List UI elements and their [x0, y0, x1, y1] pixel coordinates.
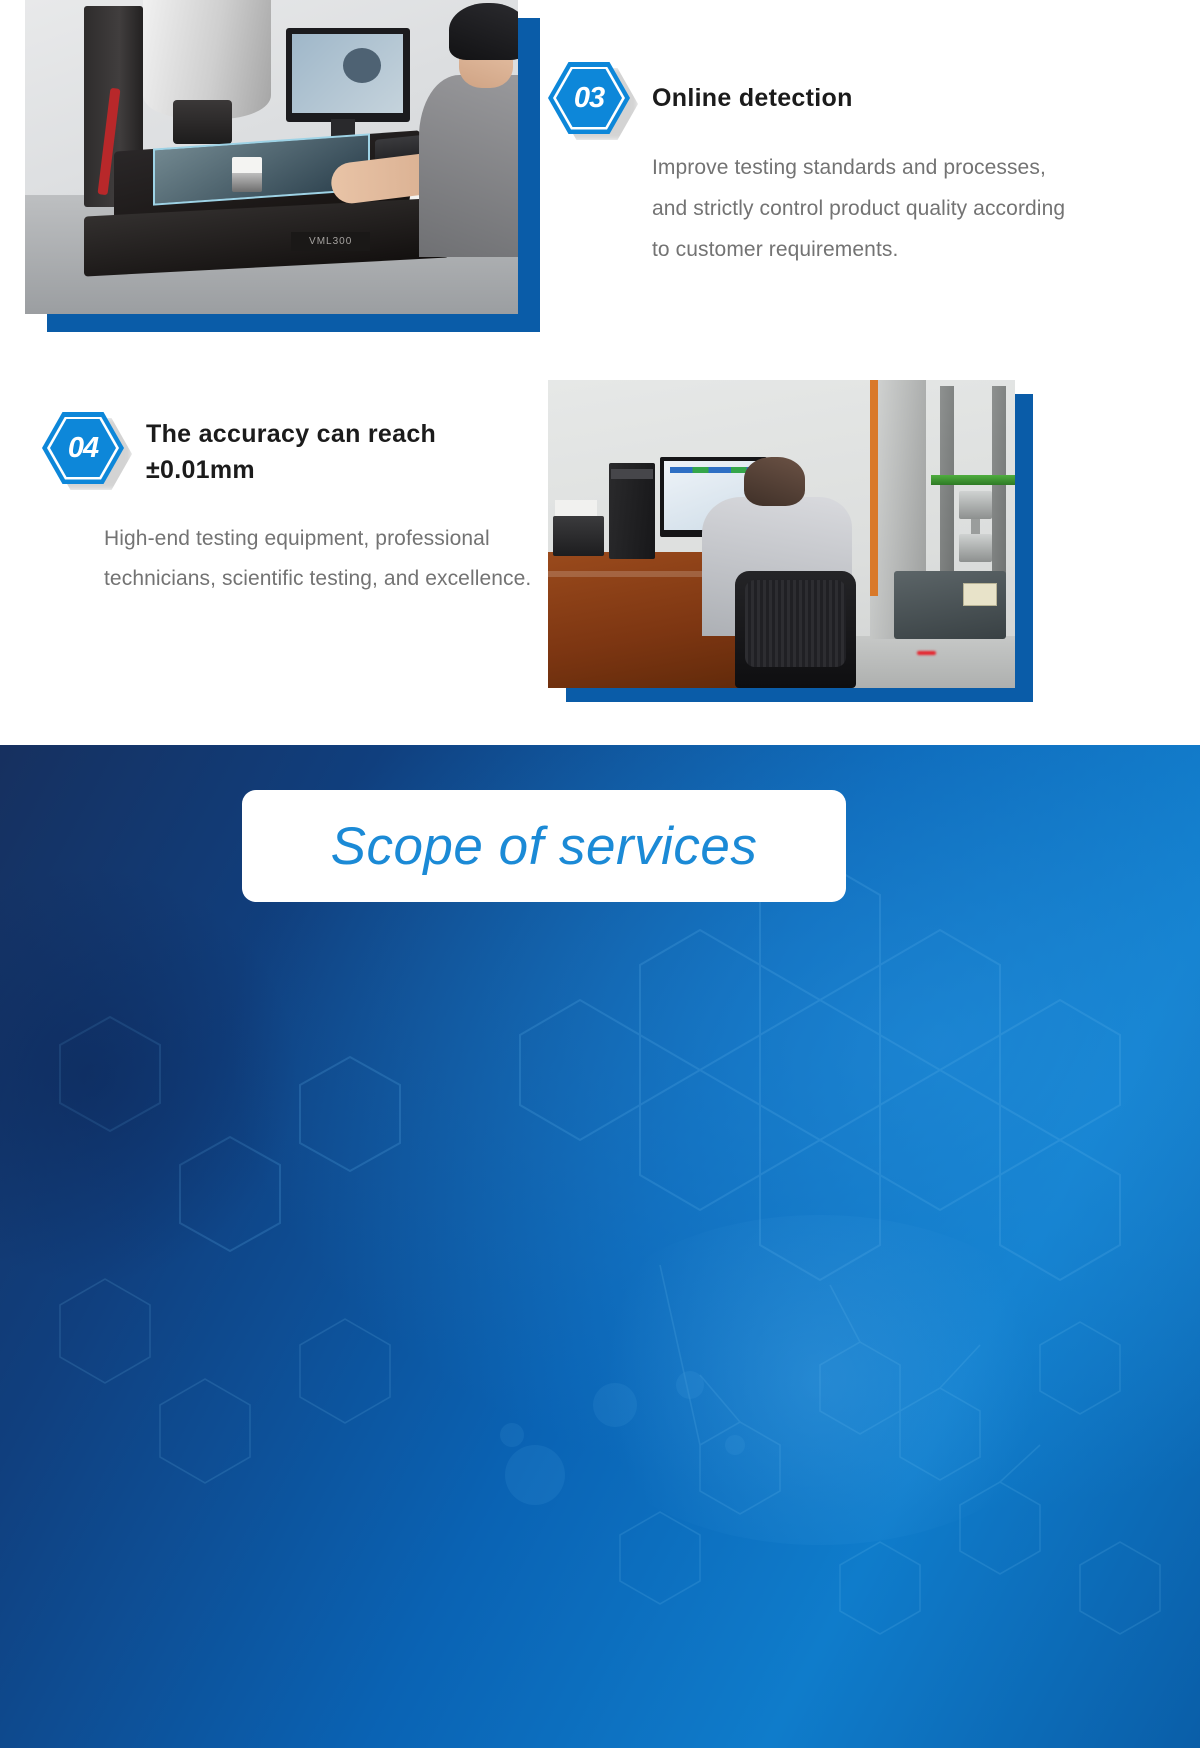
feature-title-03: Online detection: [652, 80, 853, 116]
photo-online-detection: VML300: [25, 0, 540, 332]
photo-image-online-detection: VML300: [25, 0, 518, 314]
hexagon-badge-04: 04: [42, 412, 124, 484]
feature-online-detection: 03 Online detection Improve testing stan…: [548, 62, 1078, 271]
feature-body-03: Improve testing standards and processes,…: [548, 148, 1078, 271]
feature-title-04: The accuracy can reach ±0.01mm: [146, 412, 542, 489]
scope-title-card: Scope of services: [242, 790, 846, 902]
photo-image-tensile-testing: [548, 380, 1015, 688]
hexagon-badge-03: 03: [548, 62, 630, 134]
photo-tensile-testing: [548, 380, 1033, 702]
feature-accuracy: 04 The accuracy can reach ±0.01mm High-e…: [42, 412, 542, 600]
feature-body-04: High-end testing equipment, professional…: [42, 519, 542, 601]
badge-number-04: 04: [42, 412, 124, 484]
scope-title: Scope of services: [331, 816, 758, 877]
features-section: VML300 03 Online detection Imp: [0, 0, 1200, 745]
machine-label: VML300: [291, 232, 370, 251]
marketing-page: VML300 03 Online detection Imp: [0, 0, 1200, 1748]
scope-of-services-section: Scope of services: [0, 745, 1200, 1748]
badge-number-03: 03: [548, 62, 630, 134]
